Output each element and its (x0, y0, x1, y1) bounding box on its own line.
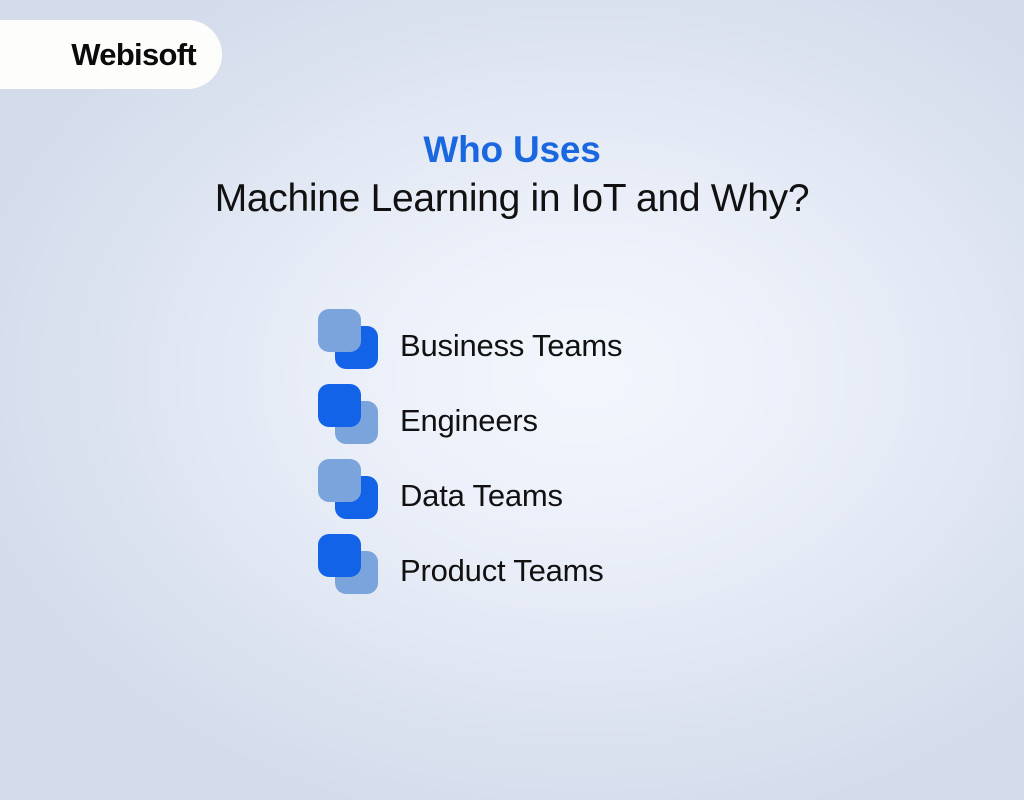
list-item-label: Business Teams (400, 330, 622, 361)
page-title-main-line: Machine Learning in IoT and Why? (0, 176, 1024, 222)
brand-logo-text: Webisoft (71, 39, 196, 70)
square-light (318, 459, 361, 502)
list-item-label: Engineers (400, 405, 538, 436)
square-bright (318, 534, 361, 577)
double-rounded-square-icon (316, 533, 384, 595)
list-item: Product Teams (316, 533, 876, 608)
list-item: Data Teams (316, 458, 876, 533)
brand-logo: Webisoft (0, 20, 222, 89)
audience-list: Business Teams Engineers Data Teams Prod… (316, 308, 876, 608)
list-item: Business Teams (316, 308, 876, 383)
list-item-label: Product Teams (400, 555, 604, 586)
double-rounded-square-icon (316, 308, 384, 370)
page-title-accent-line: Who Uses (0, 129, 1024, 170)
double-rounded-square-icon (316, 458, 384, 520)
double-rounded-square-icon (316, 383, 384, 445)
square-light (318, 309, 361, 352)
list-item: Engineers (316, 383, 876, 458)
page-title: Who Uses Machine Learning in IoT and Why… (0, 129, 1024, 222)
list-item-label: Data Teams (400, 480, 563, 511)
square-bright (318, 384, 361, 427)
infographic-slide: Webisoft Who Uses Machine Learning in Io… (0, 0, 1024, 800)
